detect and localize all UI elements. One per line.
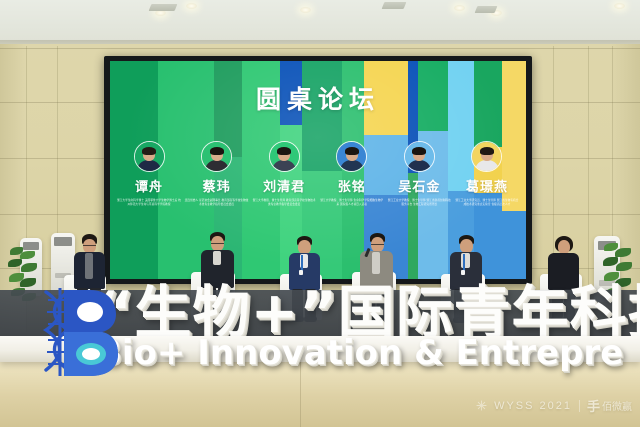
ceiling-vent <box>475 6 498 13</box>
panelist-shirt <box>213 251 221 265</box>
speaker-avatar <box>404 141 435 172</box>
speaker-name: 葛璟燕 <box>454 176 520 195</box>
speaker-affiliation: 连连创始人 星范协会副理事长 教育部高等学校生物技术类专业教学指导委员会委员 <box>184 199 250 208</box>
avatar-hair <box>210 147 224 155</box>
plant-leaf <box>21 263 37 272</box>
speaker-avatar <box>336 141 367 172</box>
speaker-avatar <box>201 141 232 172</box>
plant-leaf <box>616 262 632 271</box>
foreground-english-title: Bio+ Innovation & Entrepre <box>96 336 640 370</box>
watermark-brand: 手 佰微赢 <box>587 396 632 415</box>
panelist-head <box>558 240 570 254</box>
speaker-affiliation: 浙江大学教授、博士生导师 生命科学学院细胞生物学系 国家级人才项目入选者 <box>319 199 385 208</box>
ceiling-vent <box>382 2 407 9</box>
speaker-avatar <box>471 141 502 172</box>
panelist-head <box>460 239 473 253</box>
name-badge <box>461 270 465 275</box>
watermark-brand-text: 佰微赢 <box>602 398 632 413</box>
avatar-body <box>205 160 229 171</box>
avatar-hair <box>345 147 359 155</box>
speaker-affiliation: 浙江工业大学研究员、博士生导师 浙江省生物有机合成技术研究重点实验室 省级高层次… <box>454 199 520 208</box>
glasses-icon <box>211 243 224 246</box>
speaker-name: 吴石金 <box>386 176 452 195</box>
ceiling-downlight <box>454 5 465 11</box>
speaker-avatar <box>134 141 165 172</box>
wall-panel-line <box>0 48 640 49</box>
plant-leaf <box>20 251 35 259</box>
speaker-name: 张铭 <box>319 176 385 195</box>
ceiling-downlight <box>300 7 311 13</box>
bio-dna-b-logo <box>34 284 120 380</box>
lanyard <box>463 254 465 271</box>
speaker-card: 张铭浙江大学教授、博士生导师 生命科学学院细胞生物学系 国家级人才项目入选者 <box>319 141 385 208</box>
watermark-separator <box>579 400 580 412</box>
screen-title: 圆桌论坛 <box>110 80 526 116</box>
speaker-affiliation: 浙江大学教授、博士生导师 教育部高等学校生物技术类专业教学指导委员会委员 <box>251 199 317 208</box>
lanyard <box>301 255 303 271</box>
panelist-shirt <box>372 252 380 274</box>
glasses-icon <box>83 245 96 248</box>
panelist-head <box>298 240 311 254</box>
conference-photo: 圆桌论坛 谭舟浙江大学生命科学博士 美国耶鲁大学生物学博士后 杭州师范大学生命与… <box>0 0 640 427</box>
glasses-icon <box>371 244 384 247</box>
speaker-card: 吴石金浙江工业大学教授、博士生导师 浙江省新药创制科技服务平台 生物工程研究所所… <box>386 141 452 208</box>
speaker-card: 谭舟浙江大学生命科学博士 美国耶鲁大学生物学博士后 杭州师范大学生命与环境科学学… <box>116 141 182 208</box>
speaker-affiliation: 浙江工业大学教授、博士生导师 浙江省新药创制科技服务平台 生物工程研究所所长 <box>386 199 452 208</box>
avatar-hair <box>277 147 291 155</box>
watermark: WYSS 2021 手 佰微赢 <box>476 396 632 415</box>
watermark-event-code: WYSS 2021 <box>494 400 572 412</box>
speaker-name: 刘清君 <box>251 176 317 195</box>
speaker-name: 谭舟 <box>116 176 182 195</box>
ceiling-downlight <box>186 3 197 9</box>
speaker-card: 刘清君浙江大学教授、博士生导师 教育部高等学校生物技术类专业教学指导委员会委员 <box>251 141 317 208</box>
speaker-name: 蔡玮 <box>184 176 250 195</box>
avatar-hair <box>142 147 156 155</box>
speaker-avatar <box>269 141 300 172</box>
speaker-affiliation: 浙江大学生命科学博士 美国耶鲁大学生物学博士后 杭州师范大学生命与环境科学学院教… <box>116 199 182 208</box>
panelist-shirt <box>85 253 93 279</box>
avatar-hair <box>412 147 426 155</box>
speaker-card: 蔡玮连连创始人 星范协会副理事长 教育部高等学校生物技术类专业教学指导委员会委员 <box>184 141 250 208</box>
snowflake-icon <box>476 400 487 411</box>
watermark-brand-mark: 手 <box>587 396 600 415</box>
name-badge <box>299 270 303 275</box>
avatar-hair <box>480 147 494 155</box>
ceiling-vent <box>149 4 178 11</box>
speaker-card: 葛璟燕浙江工业大学研究员、博士生导师 浙江省生物有机合成技术研究重点实验室 省级… <box>454 141 520 208</box>
plant-leaf <box>615 248 631 257</box>
ceiling-downlight <box>614 3 625 9</box>
plant-leaf <box>8 259 22 267</box>
